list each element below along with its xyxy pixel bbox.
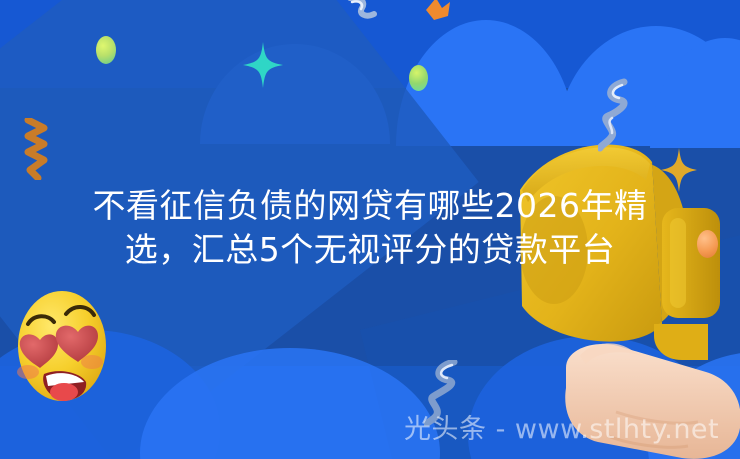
balloon-green-icon xyxy=(409,65,428,91)
ribbon-orange-left-icon xyxy=(22,118,52,180)
star-cyan-icon xyxy=(243,42,283,88)
ribbon-orange-top-icon xyxy=(424,0,452,22)
watermark: 光头条 - www.stlhty.net xyxy=(404,414,719,446)
spiral-top-icon xyxy=(346,0,380,28)
banner-headline: 不看征信负债的网贷有哪些2026年精 选，汇总5个无视评分的贷款平台 xyxy=(0,184,740,272)
heart-eyes-emoji-icon xyxy=(14,288,110,404)
headline-line-2: 选，汇总5个无视评分的贷款平台 xyxy=(0,228,740,272)
promo-banner: 不看征信负债的网贷有哪些2026年精 选，汇总5个无视评分的贷款平台 光头条 -… xyxy=(0,0,740,459)
spiral-right-icon xyxy=(598,78,632,152)
headline-line-1: 不看征信负债的网贷有哪些2026年精 xyxy=(0,184,740,228)
balloon-green-icon xyxy=(96,36,116,64)
